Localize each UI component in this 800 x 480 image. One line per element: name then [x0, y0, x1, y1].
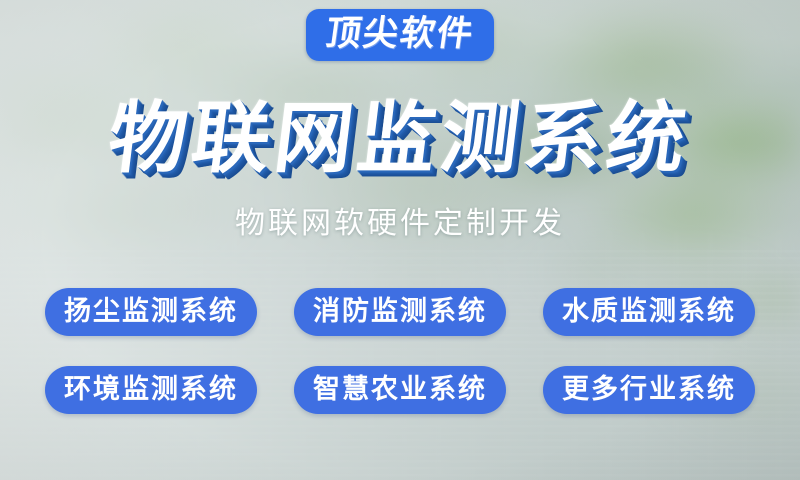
category-button-more-industries[interactable]: 更多行业系统 [543, 366, 755, 414]
category-button-dust-monitoring[interactable]: 扬尘监测系统 [45, 288, 257, 336]
category-button-smart-agriculture[interactable]: 智慧农业系统 [294, 366, 506, 414]
category-button-label: 扬尘监测系统 [64, 297, 238, 327]
brand-badge-label: 顶尖软件 [323, 14, 477, 54]
banner-content: 顶尖软件 物联网监测系统 物联网软硬件定制开发 扬尘监测系统 消防监测系统 水质… [0, 0, 800, 480]
category-button-label: 环境监测系统 [64, 375, 238, 405]
subheadline-label: 物联网软硬件定制开发 [235, 205, 565, 243]
headline: 物联网监测系统 [0, 96, 800, 182]
category-button-fire-monitoring[interactable]: 消防监测系统 [294, 288, 506, 336]
category-button-label: 更多行业系统 [562, 375, 736, 405]
brand-badge: 顶尖软件 [306, 9, 494, 61]
category-button-grid: 扬尘监测系统 消防监测系统 水质监测系统 环境监测系统 智慧农业系统 更多行业系… [45, 288, 755, 414]
category-button-water-quality-monitoring[interactable]: 水质监测系统 [543, 288, 755, 336]
subheadline: 物联网软硬件定制开发 [0, 205, 800, 243]
category-button-environment-monitoring[interactable]: 环境监测系统 [45, 366, 257, 414]
category-button-label: 智慧农业系统 [313, 375, 487, 405]
category-button-label: 水质监测系统 [562, 297, 736, 327]
category-button-label: 消防监测系统 [313, 297, 487, 327]
headline-label: 物联网监测系统 [104, 96, 696, 182]
promotional-banner: 顶尖软件 物联网监测系统 物联网软硬件定制开发 扬尘监测系统 消防监测系统 水质… [0, 0, 800, 480]
